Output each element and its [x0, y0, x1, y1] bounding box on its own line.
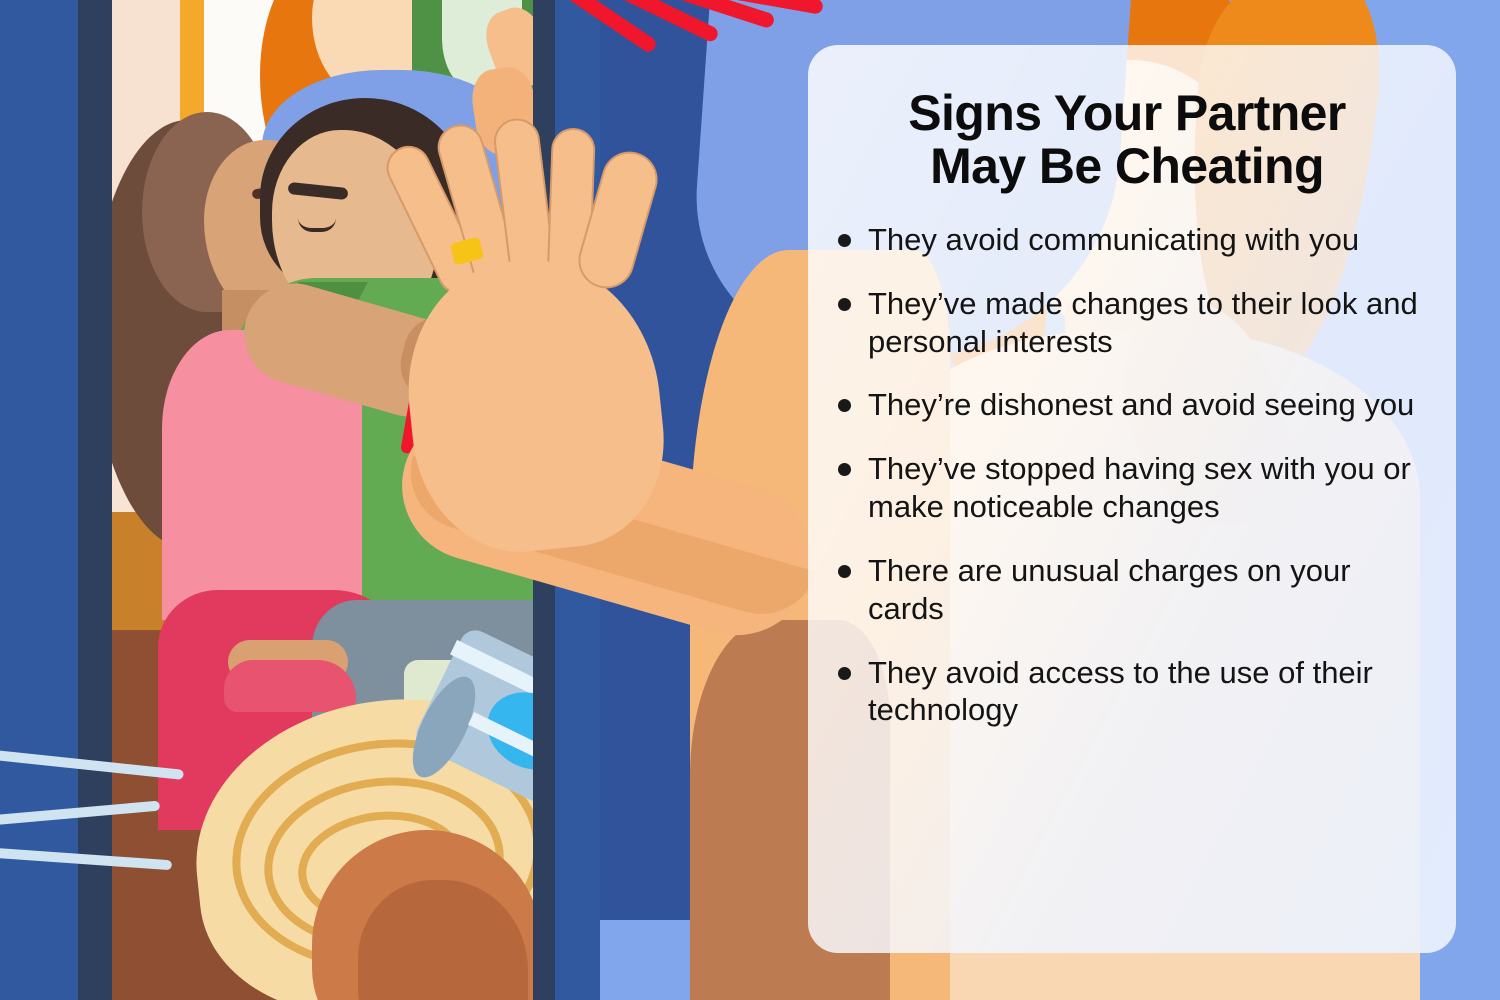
text-card-panel: Signs Your Partner May Be Cheating They … — [808, 45, 1456, 953]
bullet-dot-icon — [838, 399, 851, 412]
page-title-line-2: May Be Cheating — [840, 140, 1414, 193]
bullet-dot-icon — [838, 298, 851, 311]
list-item-label: There are unusual charges on your cards — [868, 553, 1351, 626]
page-title-line-1: Signs Your Partner — [840, 87, 1414, 140]
door-frame-left — [78, 0, 112, 1000]
list-item-label: They’ve stopped having sex with you or m… — [868, 451, 1411, 524]
list-item: They’re dishonest and avoid seeing you — [834, 386, 1420, 424]
list-item-label: They’re dishonest and avoid seeing you — [868, 387, 1414, 422]
page-title: Signs Your Partner May Be Cheating — [834, 87, 1420, 199]
list-item-label: They avoid access to the use of their te… — [868, 655, 1373, 728]
bullet-dot-icon — [838, 667, 851, 680]
woman-sandal-icon — [224, 660, 356, 712]
list-item: They’ve made changes to their look and p… — [834, 285, 1420, 361]
signs-list: They avoid communicating with you They’v… — [834, 221, 1420, 729]
list-item: They avoid access to the use of their te… — [834, 654, 1420, 730]
list-item: They avoid communicating with you — [834, 221, 1420, 259]
bullet-dot-icon — [838, 234, 851, 247]
list-item: There are unusual charges on your cards — [834, 552, 1420, 628]
list-item-label: They’ve made changes to their look and p… — [868, 286, 1418, 359]
list-item-label: They avoid communicating with you — [868, 222, 1359, 257]
bullet-dot-icon — [838, 565, 851, 578]
bullet-dot-icon — [838, 463, 851, 476]
list-item: They’ve stopped having sex with you or m… — [834, 450, 1420, 526]
infographic-canvas: Signs Your Partner May Be Cheating They … — [0, 0, 1500, 1000]
